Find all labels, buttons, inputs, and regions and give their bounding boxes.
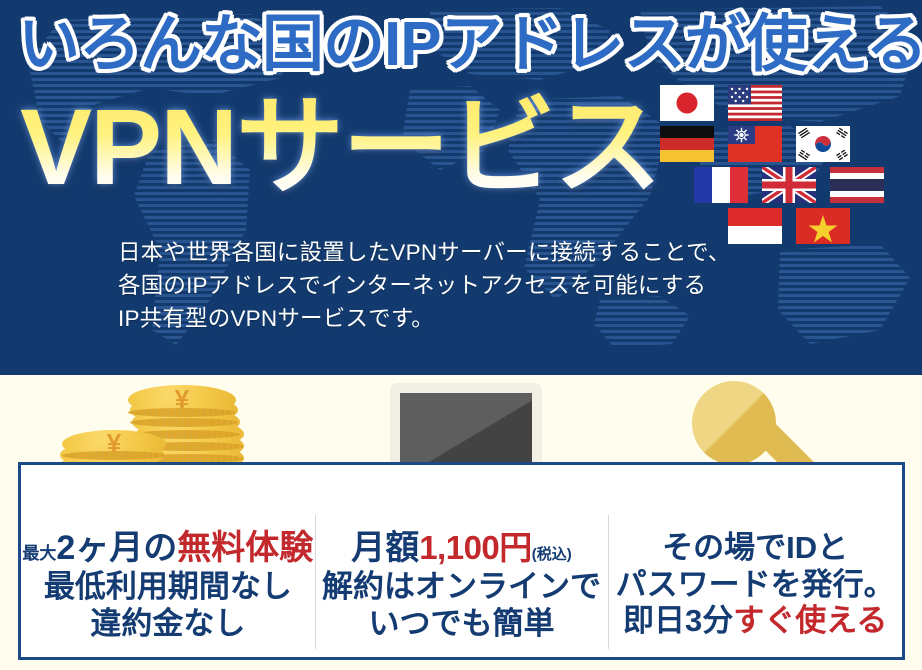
panel2-price: 1,100円 (419, 529, 532, 566)
feature-panel-instant-id: その場でIDと パスワードを発行。 即日3分すぐ使える (608, 465, 902, 657)
japan-flag (660, 85, 714, 121)
taiwan-flag (728, 126, 782, 162)
vpn-service-banner: いろんな国のIPアドレスが使える VPNサービス 日本や世界各国に設置したVPN… (0, 0, 922, 670)
germany-flag (660, 126, 714, 162)
panel3-line3: 即日3分すぐ使える (623, 603, 887, 640)
panel3-line1: その場でIDと (662, 530, 848, 567)
vietnam-flag (796, 208, 850, 244)
monitor-screen (400, 393, 532, 471)
hero-description: 日本や世界各国に設置したVPNサーバーに接続することで、 各国のIPアドレスでイ… (118, 236, 878, 335)
usa-flag (728, 85, 782, 121)
panel1-prefix: 最大 (22, 544, 56, 563)
uk-flag (762, 167, 816, 203)
panel1-line1: 最大2ヶ月の無料体験 (22, 528, 313, 568)
yen-symbol: ¥ (107, 430, 121, 456)
hero-headline: いろんな国のIPアドレスが使える (18, 6, 838, 84)
key-head (692, 381, 776, 465)
panel1-highlight: 無料体験 (177, 529, 313, 567)
panel2-label: 月額 (351, 529, 419, 567)
panel3-highlight: すぐ使える (733, 603, 887, 638)
panel3-line2: パスワードを発行。 (616, 567, 895, 604)
description-line-3: IP共有型のVPNサービスです。 (118, 302, 878, 335)
feature-panel-pricing: 月額1,100円(税込) 解約はオンラインで いつでも簡単 (315, 465, 609, 657)
france-flag (694, 167, 748, 203)
panel2-tax-note: (税込) (532, 546, 572, 563)
panel2-line2: 解約はオンラインで (322, 569, 601, 606)
yen-symbol: ¥ (175, 386, 189, 412)
feature-box: 最大2ヶ月の無料体験 最低利用期間なし 違約金なし 月額1,100円(税込) 解… (18, 462, 905, 660)
description-line-2: 各国のIPアドレスでインターネットアクセスを可能にする (118, 269, 878, 302)
page-title: VPNサービス (20, 92, 660, 202)
panel2-line3: いつでも簡単 (369, 606, 555, 643)
panel2-line1: 月額1,100円(税込) (351, 528, 572, 568)
thailand-flag (830, 167, 884, 203)
panel1-line3: 違約金なし (90, 606, 245, 643)
hero-section: いろんな国のIPアドレスが使える VPNサービス 日本や世界各国に設置したVPN… (0, 0, 922, 375)
country-flags-group (658, 85, 910, 233)
panel3-days: 即日3分 (623, 603, 733, 638)
panel1-duration: 2ヶ月の (56, 529, 177, 567)
south-korea-flag (796, 126, 850, 162)
panel1-line2: 最低利用期間なし (44, 569, 292, 606)
feature-panel-free-trial: 最大2ヶ月の無料体験 最低利用期間なし 違約金なし (21, 465, 315, 657)
indonesia-flag (728, 208, 782, 244)
